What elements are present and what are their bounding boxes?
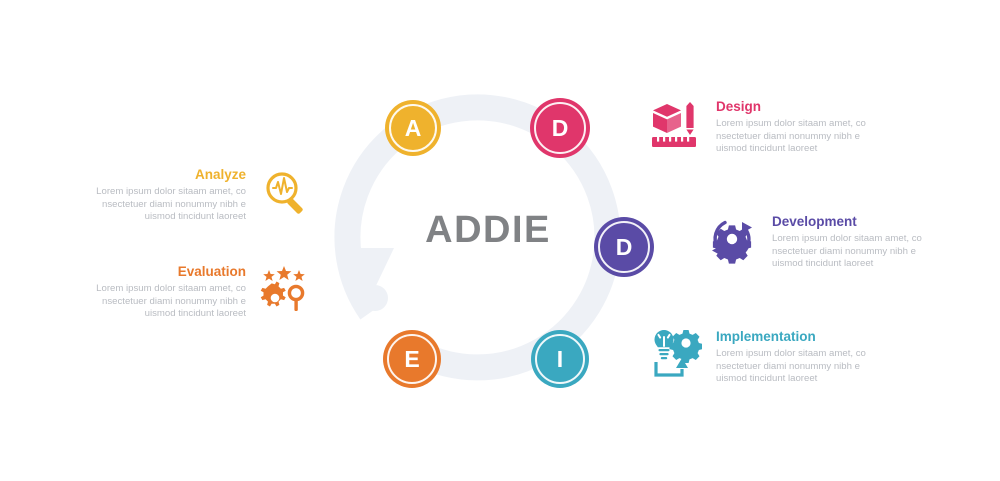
node-letter: E [404,348,419,371]
block-title-analyze: Analyze [70,166,246,183]
block-body-implementation: Lorem ipsum dolor sitaam amet, co nsecte… [716,348,892,386]
node-letter: I [557,348,563,371]
block-body-design: Lorem ipsum dolor sitaam amet, co nsecte… [716,118,892,156]
block-evaluation[interactable]: Evaluation Lorem ipsum dolor sitaam amet… [70,263,312,321]
block-body-analyze: Lorem ipsum dolor sitaam amet, co nsecte… [70,186,246,224]
block-title-implementation: Implementation [716,328,892,345]
block-implementation[interactable]: Implementation Lorem ipsum dolor sitaam … [650,328,892,386]
cycle-arrow-head-left [352,248,394,292]
block-body-development: Lorem ipsum dolor sitaam amet, co nsecte… [772,233,948,271]
block-body-evaluation: Lorem ipsum dolor sitaam amet, co nsecte… [70,283,246,321]
gear-refresh-icon [706,213,758,265]
center-title: ADDIE [400,208,576,252]
block-analyze[interactable]: Analyze Lorem ipsum dolor sitaam amet, c… [70,166,312,224]
cycle-arrow-head-bottom [362,285,388,311]
block-title-development: Development [772,213,948,230]
node-analyze[interactable]: A [385,100,441,156]
block-development[interactable]: Development Lorem ipsum dolor sitaam ame… [706,213,948,271]
node-letter: D [616,236,633,259]
node-implementation[interactable]: I [531,330,589,388]
node-development[interactable]: D [594,217,654,277]
bulb-gear-arrow-icon [650,328,702,380]
block-title-evaluation: Evaluation [70,263,246,280]
node-letter: A [405,117,422,140]
infographic-canvas: ADDIE A D D I E Analyze Lorem ipsum dolo… [0,0,1000,481]
stars-gear-magnifier-icon [260,263,312,315]
node-evaluation[interactable]: E [383,330,441,388]
block-title-design: Design [716,98,892,115]
node-letter: D [552,117,569,140]
block-design[interactable]: Design Lorem ipsum dolor sitaam amet, co… [650,98,892,156]
magnifier-pulse-icon [260,166,312,218]
node-design[interactable]: D [530,98,590,158]
cube-pencil-ruler-icon [650,98,702,150]
